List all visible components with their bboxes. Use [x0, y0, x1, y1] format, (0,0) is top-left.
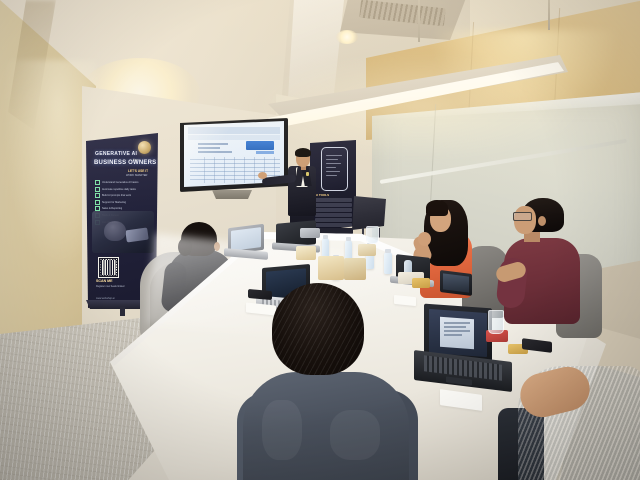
presenter-lapel-badge	[306, 172, 309, 176]
food-container[interactable]	[358, 244, 376, 256]
poster-rows	[315, 198, 352, 232]
drinking-glass[interactable]	[366, 226, 379, 244]
check-icon	[95, 187, 100, 192]
food-container[interactable]	[296, 246, 316, 260]
banner-date: SCAN ME	[96, 279, 113, 283]
document-line	[444, 330, 470, 332]
banner-subhead: LET'S USE IT	[128, 169, 148, 173]
presenter-pointing-hand	[258, 172, 267, 179]
pendant-rod	[548, 0, 550, 30]
wall-left-lightwash	[0, 60, 96, 280]
side-poster: AI TOOLS	[310, 140, 356, 232]
attendee-woman-hand	[418, 232, 431, 246]
check-icon	[95, 193, 100, 198]
laptop-charger	[300, 228, 320, 238]
banner-headline-2: BUSINESS OWNERS	[94, 160, 156, 166]
eyeglasses-icon	[513, 212, 532, 221]
snack-pack[interactable]	[412, 278, 430, 288]
banner-venue: Register now Seats limited	[96, 285, 124, 289]
water-bottle[interactable]	[384, 252, 392, 274]
document-line	[444, 326, 466, 328]
banner-bullet: Build AI prompts that work	[95, 193, 153, 198]
banner-bullet: Understand Generative AI basics	[95, 180, 153, 185]
meeting-room-photo: GENERATIVE AI for BUSINESS OWNERS LET'S …	[0, 0, 640, 480]
tablet-screen[interactable]	[443, 273, 469, 292]
bottle-cap	[346, 237, 351, 241]
banner-subhead-2: WORK SMARTER	[126, 174, 147, 177]
bottle-cap	[323, 235, 328, 239]
attendee-woman-fringe	[426, 200, 448, 216]
laptop-screen[interactable]	[231, 227, 261, 251]
document-line	[444, 334, 462, 336]
banner-footer: www.workshop.ai	[96, 297, 114, 300]
poster-tag: AI TOOLS	[315, 193, 329, 197]
banner-foot	[120, 307, 125, 316]
flipchart-stand	[352, 196, 386, 230]
bottle-cap	[385, 249, 391, 253]
banner-headline-1: GENERATIVE AI	[95, 151, 137, 157]
banner-bullet: Automate repetitive daily tasks	[95, 187, 153, 192]
smartphone-icon	[321, 147, 348, 191]
presenter-hair	[295, 148, 311, 157]
shirt-fold	[262, 400, 302, 460]
document-line	[444, 322, 470, 324]
check-icon	[95, 180, 100, 185]
banner-photo	[92, 211, 154, 253]
banner-globe-icon	[138, 141, 151, 154]
banner-bullet: Support for Marketing	[95, 200, 153, 205]
pendant-rod	[418, 0, 420, 42]
food-container[interactable]	[344, 258, 366, 280]
check-icon	[95, 200, 100, 205]
water-bottle[interactable]	[322, 238, 329, 258]
downlight-center-icon	[336, 30, 358, 44]
foreground-hair-texture	[272, 283, 364, 375]
qr-code-icon	[98, 257, 119, 278]
shirt-fold	[330, 410, 380, 460]
food-container[interactable]	[318, 256, 344, 280]
drinking-glass[interactable]	[488, 310, 504, 334]
attendee-maroon-ear	[538, 216, 546, 226]
